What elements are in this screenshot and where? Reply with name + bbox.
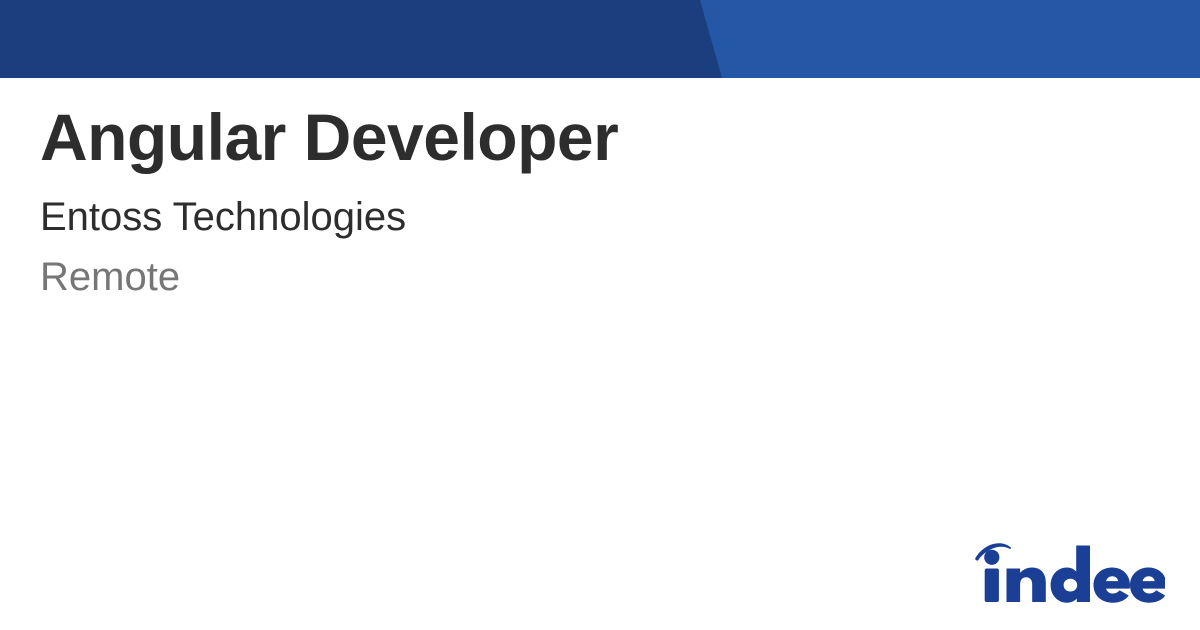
company-name: Entoss Technologies <box>40 197 406 237</box>
indeed-logo-icon <box>970 538 1165 604</box>
top-banner <box>0 0 1200 78</box>
page-title: Angular Developer <box>40 104 618 170</box>
banner-dark-panel <box>0 0 760 78</box>
job-preview-card: Angular Developer Entoss Technologies Re… <box>0 0 1200 630</box>
job-location: Remote <box>40 257 180 297</box>
